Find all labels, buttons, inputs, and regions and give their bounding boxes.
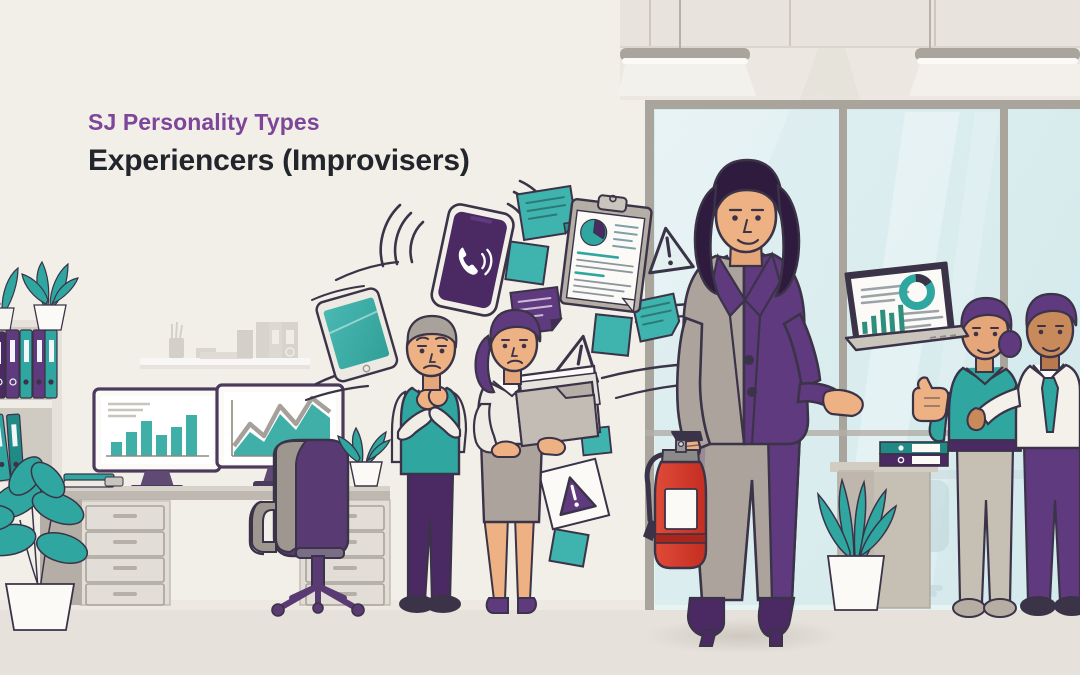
office-scene-illustration bbox=[0, 0, 1080, 675]
sticky-note-teal-3 bbox=[592, 314, 632, 356]
illustration-canvas: SJ Personality Types Experiencers (Impro… bbox=[0, 0, 1080, 675]
folder-stack bbox=[516, 366, 600, 446]
binders-top-shelf bbox=[0, 330, 57, 398]
warning-triangle-3 bbox=[539, 459, 609, 529]
sticky-note-teal-5 bbox=[549, 529, 588, 566]
sticky-note-teal-2 bbox=[505, 242, 548, 285]
clipboard-report bbox=[560, 191, 653, 313]
binders-on-cabinet bbox=[880, 442, 948, 466]
pen-cup bbox=[169, 322, 184, 358]
floor bbox=[0, 600, 1080, 675]
floor-shadow bbox=[644, 618, 840, 654]
